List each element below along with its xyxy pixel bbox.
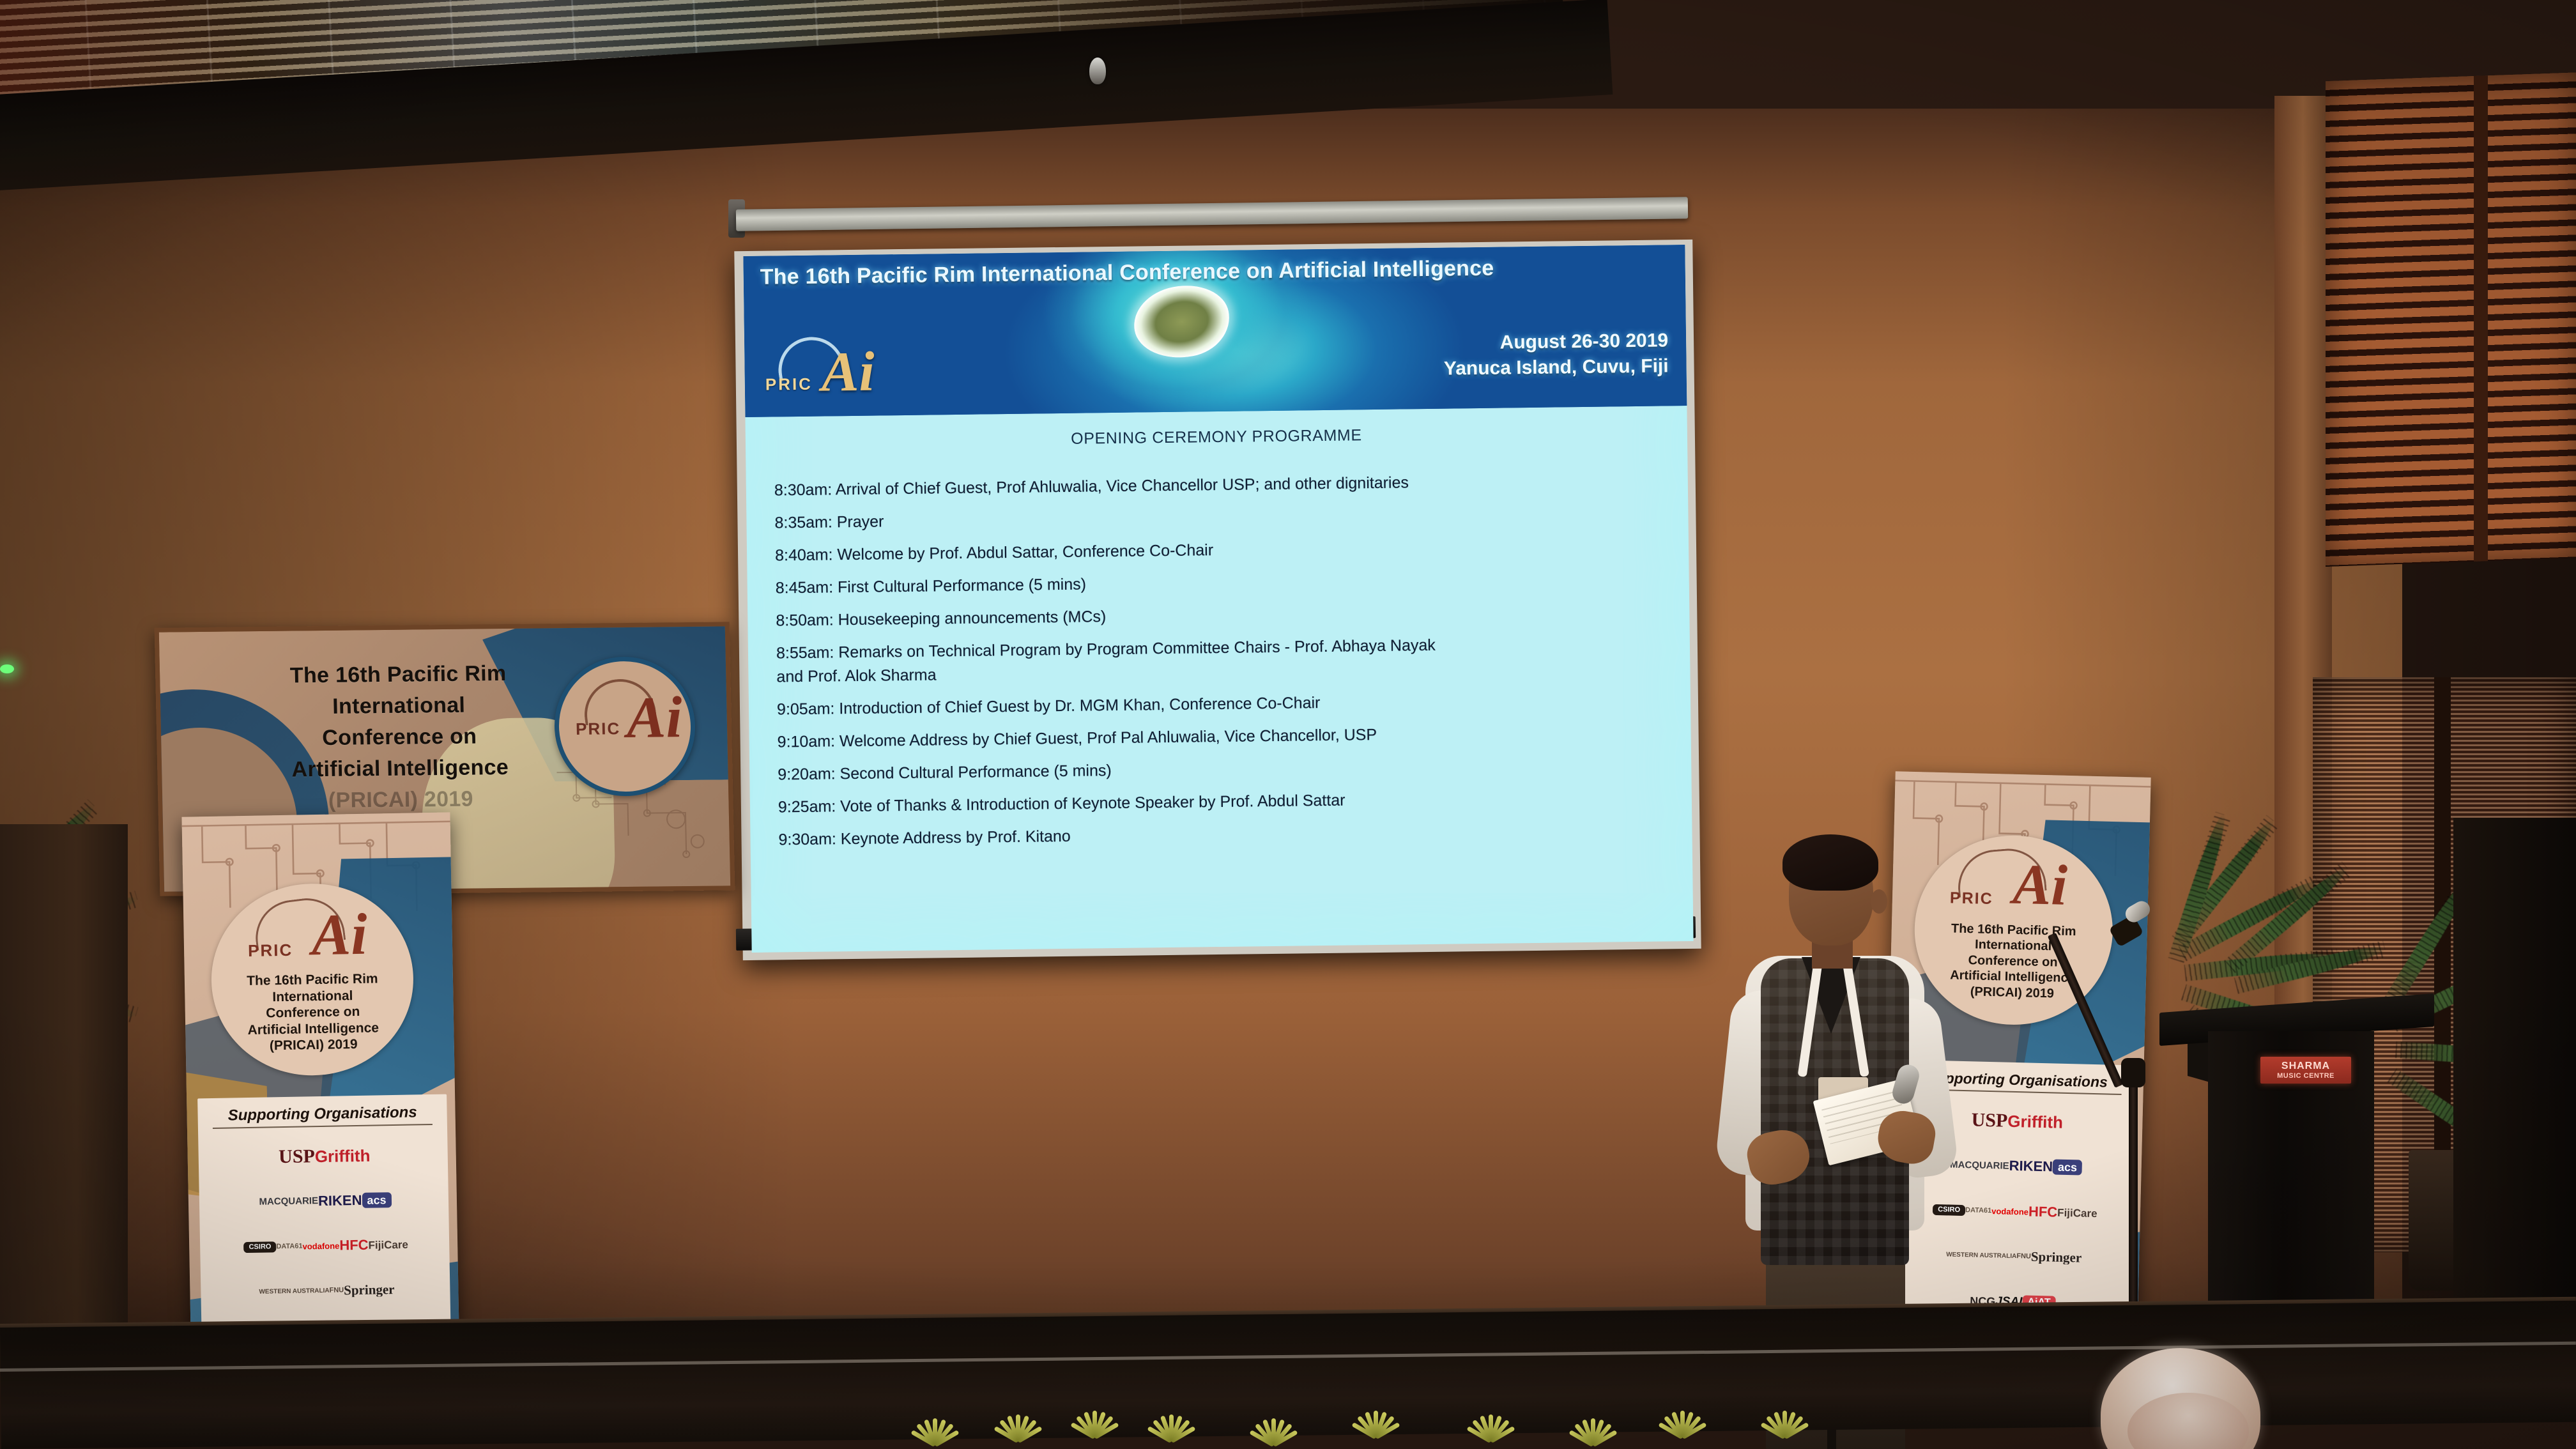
presenter-hair [1782, 834, 1878, 891]
badge-title-line: Artificial Intelligence [228, 1020, 398, 1039]
power-led-indicator [0, 664, 14, 673]
agenda-item: 9:30am: Keynote Address by Prof. Kitano [778, 821, 1674, 848]
agenda-item: 9:05am: Introduction of Chief Guest by D… [777, 691, 1673, 717]
agenda-item: 8:40am: Welcome by Prof. Abdul Sattar, C… [775, 537, 1671, 563]
flower-arrangement [1073, 1403, 1118, 1437]
flower-arrangement [1763, 1403, 1808, 1437]
podium: SHARMA MUSIC CENTRE [2153, 1003, 2447, 1322]
sponsor-row: WESTERN AUSTRALIAFNUSpringer [259, 1268, 395, 1315]
flower-arrangement [914, 1411, 958, 1445]
flower-arrangement [1469, 1407, 1514, 1441]
slide-date-location: August 26-30 2019 Yanuca Island, Cuvu, F… [1443, 328, 1669, 381]
slide-location-text: Yanuca Island, Cuvu, Fiji [1444, 353, 1669, 381]
slide-date-text: August 26-30 2019 [1443, 328, 1668, 356]
flower-arrangement [1252, 1411, 1297, 1445]
sponsor-logo: USP [1971, 1110, 2007, 1130]
badge-title-lines: The 16th Pacific RimInternationalConfere… [227, 970, 399, 1055]
poster-title-text: The 16th Pacific RimInternationalConfere… [248, 657, 551, 817]
agenda-item: 9:25am: Vote of Thanks & Introduction of… [778, 788, 1674, 815]
sponsor-logo: HFC [339, 1238, 369, 1253]
right-dark-panel [2453, 818, 2576, 1367]
slide-header: The 16th Pacific Rim International Confe… [743, 245, 1687, 417]
timber-louvre-upper [2326, 72, 2576, 567]
poster-title-line: International [249, 689, 549, 723]
agenda-item: 8:30am: Arrival of Chief Guest, Prof Ahl… [774, 471, 1670, 498]
sponsor-logo: vodafone [1991, 1207, 2028, 1216]
agenda-item: 9:20am: Second Cultural Performance (5 m… [778, 756, 1673, 783]
agenda-item: and Prof. Alok Sharma [776, 658, 1672, 685]
flower-arrangement [1661, 1403, 1706, 1437]
slide-body: OPENING CEREMONY PROGRAMME 8:30am: Arriv… [745, 406, 1692, 848]
supporting-organisations-title: Supporting Organisations [197, 1103, 447, 1126]
agenda-list: 8:30am: Arrival of Chief Guest, Prof Ahl… [746, 471, 1692, 848]
badge-ai-text: Ai [311, 905, 368, 965]
sponsor-row: CSIRODATA61vodafoneHFCFijiCare [243, 1222, 409, 1270]
sponsor-logo: acs [362, 1192, 391, 1208]
poster-title-line: The 16th Pacific Rim [248, 657, 549, 692]
agenda-item: 8:50am: Housekeeping announcements (MCs) [776, 602, 1671, 629]
sponsor-row: MACQUARIERIKENacs [259, 1177, 392, 1225]
presenter-ear [1871, 889, 1887, 914]
sponsor-logo: WESTERN AUSTRALIA [259, 1287, 329, 1295]
agenda-item: 9:10am: Welcome Address by Chief Guest, … [778, 723, 1673, 750]
poster-title-line: (PRICAI) 2019 [250, 783, 551, 817]
mic-stand-boom-arm [2048, 933, 2124, 1088]
badge-title-line: The 16th Pacific Rim [227, 970, 397, 990]
sponsor-logo: RIKEN [318, 1193, 362, 1208]
sponsor-logo: vodafone [302, 1241, 339, 1250]
conference-hall-scene: The 16th Pacific Rim International Confe… [0, 0, 2576, 1449]
sponsor-logo: MACQUARIE [259, 1196, 318, 1207]
sponsor-logo: FNU [2016, 1253, 2031, 1261]
logo-ai-text: Ai [821, 344, 875, 401]
left-equipment-cabinet [0, 824, 128, 1361]
poster-title-line: Conference on [249, 720, 550, 755]
agenda-item: 8:55am: Remarks on Technical Program by … [776, 634, 1672, 661]
agenda-item: 8:45am: First Cultural Performance (5 mi… [776, 569, 1671, 596]
presentation-slide: The 16th Pacific Rim International Confe… [743, 245, 1693, 953]
agenda-item: 8:35am: Prayer [774, 504, 1670, 531]
divider [213, 1124, 433, 1129]
sprinkler-icon [1089, 57, 1106, 84]
sponsor-logo: CSIRO [243, 1241, 276, 1253]
sponsor-logo: USP [279, 1147, 315, 1167]
podium-sign-line2: MUSIC CENTRE [2277, 1073, 2334, 1080]
programme-heading: OPENING CEREMONY PROGRAMME [746, 422, 1687, 452]
sponsor-row: USPGriffith [279, 1133, 371, 1179]
sponsor-logo: DATA61 [1965, 1207, 1991, 1215]
logo-pric-text: PRIC [765, 374, 813, 395]
poster-title-line: Artificial Intelligence [250, 751, 551, 786]
badge-title-line: (PRICAI) 2019 [229, 1036, 399, 1055]
sponsor-logo: DATA61 [276, 1243, 302, 1250]
flower-arrangement [1354, 1403, 1399, 1437]
badge-ai-text: Ai [626, 687, 683, 747]
rollup-banner-left: PRIC Ai The 16th Pacific RimInternationa… [181, 812, 459, 1372]
flower-arrangement [1150, 1407, 1195, 1441]
sponsor-logo: Springer [344, 1283, 395, 1297]
podium-sign-line1: SHARMA [2281, 1061, 2330, 1071]
sponsor-logo: Griffith [315, 1147, 371, 1165]
pricai-logo: PRIC Ai [762, 334, 871, 406]
sponsor-logo: FijiCare [368, 1239, 408, 1250]
podium-sign: SHARMA MUSIC CENTRE [2260, 1057, 2351, 1084]
flower-arrangement [1572, 1411, 1616, 1445]
sponsor-logo: FNU [329, 1287, 344, 1294]
mic-stand-joint [2121, 1058, 2145, 1087]
flower-arrangement [997, 1407, 1041, 1441]
badge-pric-text: PRIC [576, 719, 621, 739]
badge-pric-text: PRIC [248, 940, 293, 961]
